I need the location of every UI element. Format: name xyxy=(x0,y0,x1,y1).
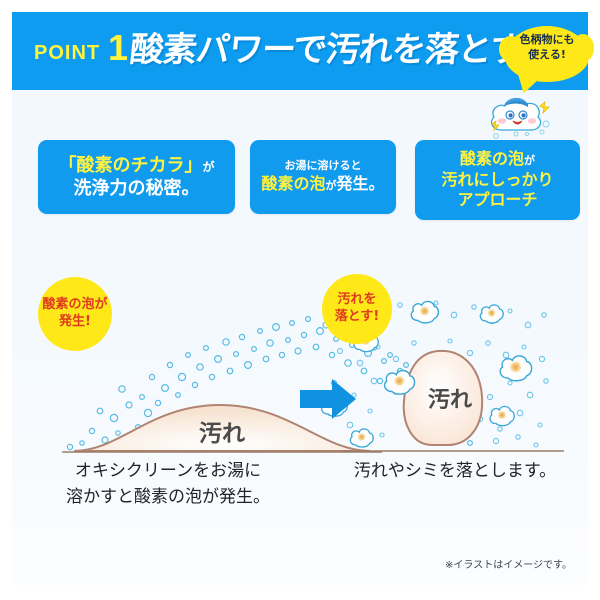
badge-remove-dirt: 汚れを 落とす! xyxy=(322,274,392,344)
caption-left-line2: 溶かすと酸素の泡が発生。 xyxy=(38,484,298,510)
box2-line2-tail: 発生。 xyxy=(337,174,385,193)
footnote: ※イラストはイメージです。 xyxy=(445,556,572,571)
badge-bubbles-generated: 酸素の泡が 発生! xyxy=(38,277,112,351)
box1-highlight: 「酸素のチカラ」 xyxy=(58,155,202,176)
box2-line1: お湯に溶けると xyxy=(261,159,384,173)
box1-particle: が xyxy=(202,160,214,174)
box3-particle: が xyxy=(524,154,535,167)
right-stain-label: 汚れ xyxy=(428,388,472,413)
box2-particle: が xyxy=(326,179,337,192)
infographic-page: POINT 1 酸素パワーで汚れを落とす!! 色柄物にも 使える! xyxy=(0,0,600,600)
caption-right-line1: 汚れやシミを落とします。 xyxy=(330,458,580,484)
box3-highlight: 酸素の泡 xyxy=(460,149,524,168)
badge-left-line1: 酸素の泡が xyxy=(42,297,107,314)
callout-line-1: 色柄物にも xyxy=(505,33,589,48)
left-stain-label: 汚れ xyxy=(199,421,245,447)
illustration-area: 汚れ xyxy=(30,255,570,465)
box3-line2: 汚れにしっかり xyxy=(441,170,553,191)
box1-line2: 洗浄力の秘密。 xyxy=(58,177,214,200)
badge-left-line2: 発生! xyxy=(42,314,107,331)
box2-highlight: 酸素の泡 xyxy=(261,174,325,193)
box3-line3: アプローチ xyxy=(441,190,553,211)
caption-left-line1: オキシクリーンをお湯に xyxy=(38,458,298,484)
feature-box-approach: 酸素の泡が 汚れにしっかり アプローチ xyxy=(415,140,580,220)
right-arrow-icon xyxy=(300,378,356,420)
feature-box-oxygen-power: 「酸素のチカラ」が 洗浄力の秘密。 xyxy=(38,140,235,214)
callout-text: 色柄物にも 使える! xyxy=(505,33,589,63)
badge-right-line1: 汚れを xyxy=(335,292,380,309)
feature-box-dissolve: お湯に溶けると 酸素の泡が発生。 xyxy=(250,140,396,214)
caption-left: オキシクリーンをお湯に 溶かすと酸素の泡が発生。 xyxy=(38,458,298,511)
caption-right: 汚れやシミを落とします。 xyxy=(330,458,580,484)
badge-right-line2: 落とす! xyxy=(335,309,380,326)
callout-line-2: 使える! xyxy=(505,48,589,63)
